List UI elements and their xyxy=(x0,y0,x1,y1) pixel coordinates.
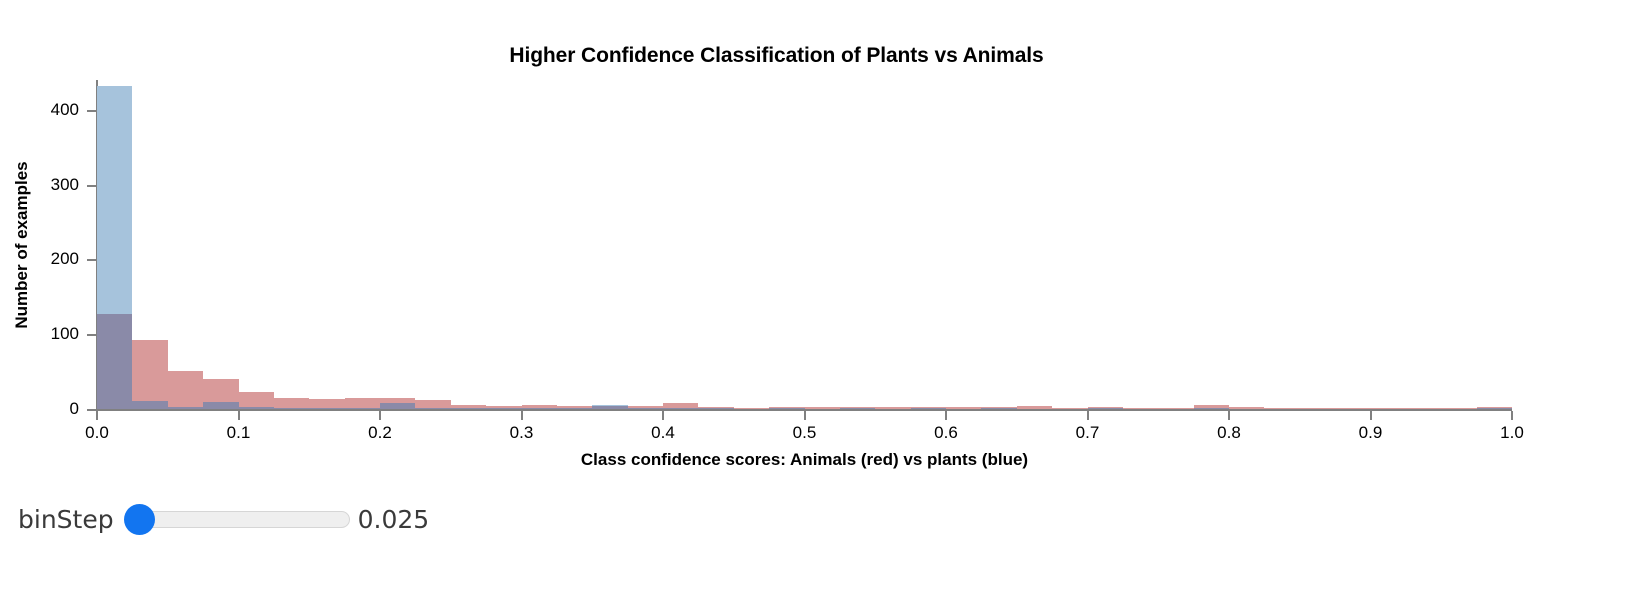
histogram-bar xyxy=(1123,408,1158,409)
x-tick-mark xyxy=(521,411,523,420)
histogram-bar-overlap xyxy=(486,408,521,409)
x-tick-label: 0.3 xyxy=(510,423,534,443)
histogram-bar xyxy=(875,407,910,409)
histogram-bar-overlap xyxy=(1194,408,1229,409)
histogram-bar xyxy=(239,392,274,407)
histogram-bar xyxy=(1229,407,1264,409)
histogram-bar xyxy=(1158,408,1193,409)
x-tick-mark xyxy=(1228,411,1230,420)
histogram-bar-overlap xyxy=(522,408,557,409)
x-tick-mark xyxy=(379,411,381,420)
histogram-bar-overlap xyxy=(203,402,238,409)
x-tick-mark xyxy=(945,411,947,420)
y-tick-label: 400 xyxy=(19,100,79,120)
x-tick-mark xyxy=(804,411,806,420)
x-tick-mark xyxy=(96,411,98,420)
histogram-bar xyxy=(132,340,167,401)
histogram-bar-overlap xyxy=(415,408,450,409)
histogram-bar-overlap xyxy=(981,408,1016,409)
histogram-bar-overlap xyxy=(557,408,592,409)
x-tick-label: 0.6 xyxy=(934,423,958,443)
histogram-bar xyxy=(274,398,309,408)
histogram-bar-overlap xyxy=(592,406,627,409)
histogram-bar xyxy=(734,408,769,409)
histogram-bar-overlap xyxy=(97,314,132,409)
bin-step-value: 0.025 xyxy=(358,507,430,532)
plot-area: 0100200300400 0.00.10.20.30.40.50.60.70.… xyxy=(97,80,1512,410)
x-tick-mark xyxy=(1370,411,1372,420)
histogram-bar-overlap xyxy=(1088,408,1123,409)
slider-track[interactable] xyxy=(130,511,350,528)
histogram-bar xyxy=(1335,408,1370,409)
y-tick-mark xyxy=(87,334,97,336)
x-tick-label: 0.1 xyxy=(227,423,251,443)
histogram-bar xyxy=(97,86,132,314)
y-tick-label: 0 xyxy=(19,399,79,419)
y-tick-mark xyxy=(87,185,97,187)
histogram-bar-overlap xyxy=(769,408,804,409)
x-tick-mark xyxy=(1511,411,1513,420)
histogram-bar-overlap xyxy=(239,407,274,409)
histogram-bar xyxy=(946,407,981,409)
x-tick-label: 0.9 xyxy=(1359,423,1383,443)
x-tick-label: 0.8 xyxy=(1217,423,1241,443)
y-tick-mark xyxy=(87,259,97,261)
histogram-bar-overlap xyxy=(132,401,167,409)
y-tick-mark xyxy=(87,110,97,112)
histogram-bar xyxy=(415,400,450,407)
histogram-bar-overlap xyxy=(380,403,415,409)
histogram-bar xyxy=(1300,408,1335,409)
histogram-bar-overlap xyxy=(274,408,309,409)
histogram-bar-overlap xyxy=(345,408,380,409)
histogram-bar xyxy=(345,398,380,408)
histogram-bar xyxy=(1264,408,1299,409)
histogram-bar xyxy=(805,407,840,409)
x-tick-label: 0.5 xyxy=(793,423,817,443)
y-tick-label: 200 xyxy=(19,249,79,269)
bin-step-slider-row: binStep 0.025 xyxy=(0,493,1646,545)
x-tick-label: 0.2 xyxy=(368,423,392,443)
x-tick-mark xyxy=(1087,411,1089,420)
x-tick-label: 1.0 xyxy=(1500,423,1524,443)
x-axis-title: Class confidence scores: Animals (red) v… xyxy=(97,450,1512,470)
chart-title: Higher Confidence Classification of Plan… xyxy=(0,44,1553,68)
histogram-bar xyxy=(1052,408,1087,409)
histogram-bar-overlap xyxy=(451,408,486,409)
histogram-bar-overlap xyxy=(628,408,663,409)
histogram-bar-overlap xyxy=(840,408,875,409)
histogram-figure: Higher Confidence Classification of Plan… xyxy=(0,0,1646,485)
histogram-bar-overlap xyxy=(168,407,203,409)
histogram-bar xyxy=(168,371,203,407)
x-tick-label: 0.0 xyxy=(85,423,109,443)
bin-step-label: binStep xyxy=(18,507,114,532)
histogram-bar xyxy=(203,379,238,402)
histogram-bar xyxy=(1017,406,1052,409)
y-tick-label: 100 xyxy=(19,324,79,344)
bin-step-slider[interactable] xyxy=(116,504,350,534)
histogram-bar xyxy=(1406,408,1441,409)
histogram-bar-overlap xyxy=(698,408,733,409)
slider-thumb[interactable] xyxy=(124,504,155,535)
x-tick-label: 0.7 xyxy=(1076,423,1100,443)
histogram-bar xyxy=(309,399,344,408)
x-tick-label: 0.4 xyxy=(651,423,675,443)
histogram-bar xyxy=(1371,408,1406,409)
x-tick-mark xyxy=(238,411,240,420)
histogram-bar-overlap xyxy=(911,408,946,409)
y-tick-label: 300 xyxy=(19,175,79,195)
x-tick-mark xyxy=(662,411,664,420)
histogram-bar-overlap xyxy=(663,408,698,409)
histogram-bar-overlap xyxy=(1477,408,1512,409)
histogram-bar xyxy=(1441,408,1476,409)
histogram-bar-overlap xyxy=(309,408,344,409)
